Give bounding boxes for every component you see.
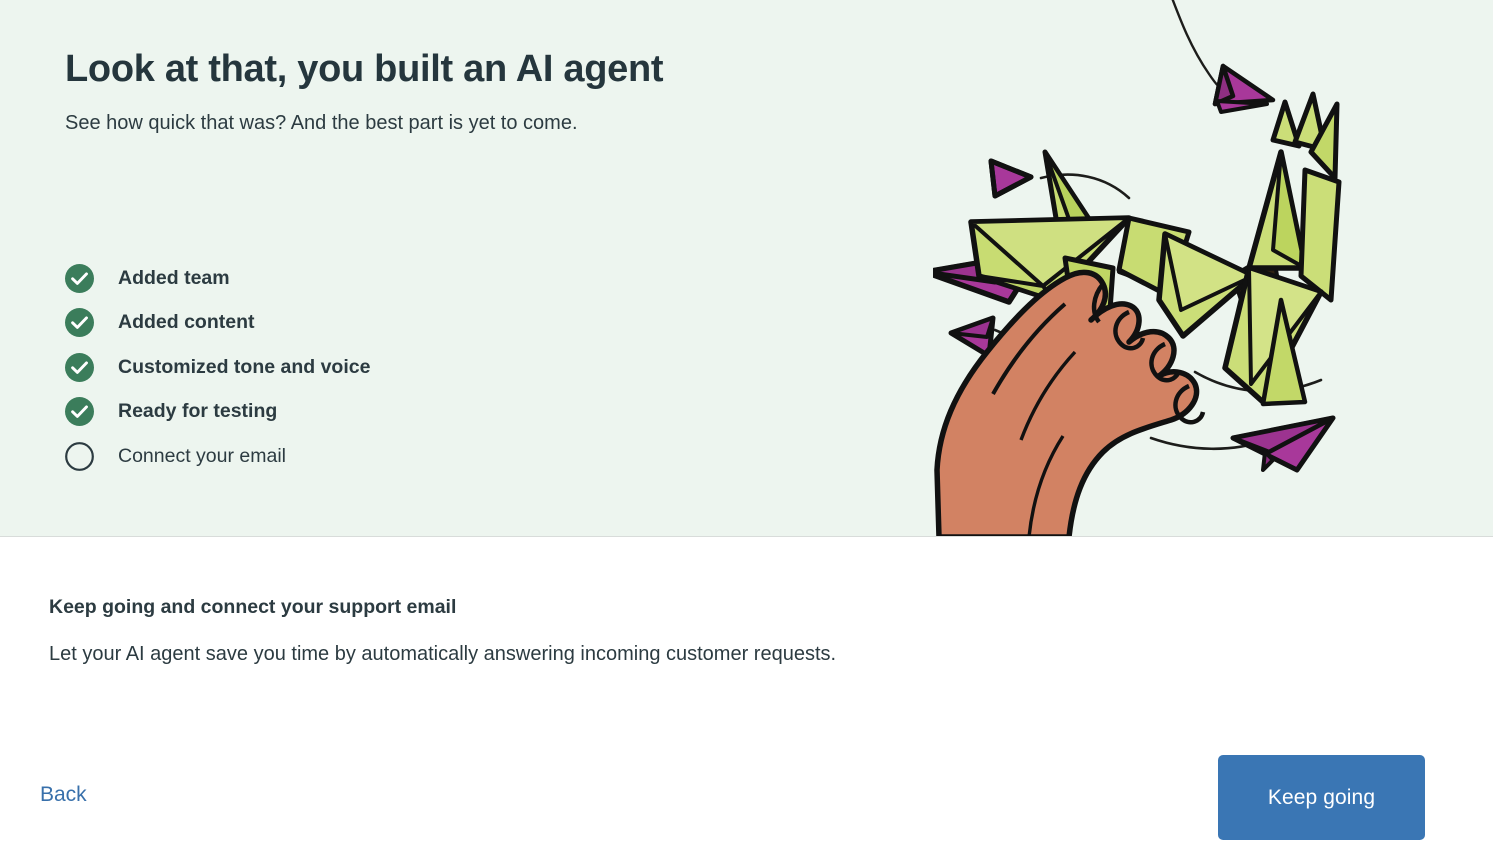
keep-going-button[interactable]: Keep going — [1218, 755, 1425, 840]
circle-outline-icon — [65, 442, 94, 471]
check-circle-filled-icon — [65, 353, 94, 382]
checklist-item-ready-for-testing: Ready for testing — [65, 390, 370, 435]
hand-icon — [937, 272, 1203, 537]
checklist-item-label: Ready for testing — [118, 402, 277, 422]
check-circle-filled-icon — [65, 397, 94, 426]
onboarding-checklist: Added team Added content Customized tone… — [65, 256, 370, 479]
hand-holding-origami-crane-illustration — [933, 0, 1493, 537]
checklist-item-connect-your-email: Connect your email — [65, 434, 370, 479]
page-title: Look at that, you built an AI agent — [65, 46, 663, 94]
body-description: Let your AI agent save you time by autom… — [49, 641, 836, 667]
paper-plane-icon — [1233, 418, 1333, 470]
checklist-item-label: Connect your email — [118, 447, 286, 467]
body-text-block: Keep going and connect your support emai… — [49, 595, 836, 667]
paper-plane-icon — [991, 161, 1031, 196]
checklist-item-label: Added team — [118, 269, 230, 289]
hero-text-block: Look at that, you built an AI agent See … — [65, 46, 663, 136]
back-button[interactable]: Back — [40, 783, 87, 807]
paper-plane-icon — [1215, 66, 1273, 112]
check-circle-filled-icon — [65, 308, 94, 337]
paper-plane-icon — [951, 318, 993, 356]
hero-panel: Look at that, you built an AI agent See … — [0, 0, 1493, 537]
page-subtitle: See how quick that was? And the best par… — [65, 110, 663, 136]
paper-plane-icon — [933, 252, 1041, 302]
origami-crane-icon — [971, 94, 1339, 404]
checklist-item-label: Customized tone and voice — [118, 358, 370, 378]
checklist-item-customized-tone-and-voice: Customized tone and voice — [65, 345, 370, 390]
checklist-item-added-team: Added team — [65, 256, 370, 301]
check-circle-filled-icon — [65, 264, 94, 293]
footer-bar: Back Keep going — [0, 755, 1493, 861]
body-title: Keep going and connect your support emai… — [49, 595, 836, 620]
checklist-item-label: Added content — [118, 313, 255, 333]
checklist-item-added-content: Added content — [65, 301, 370, 346]
